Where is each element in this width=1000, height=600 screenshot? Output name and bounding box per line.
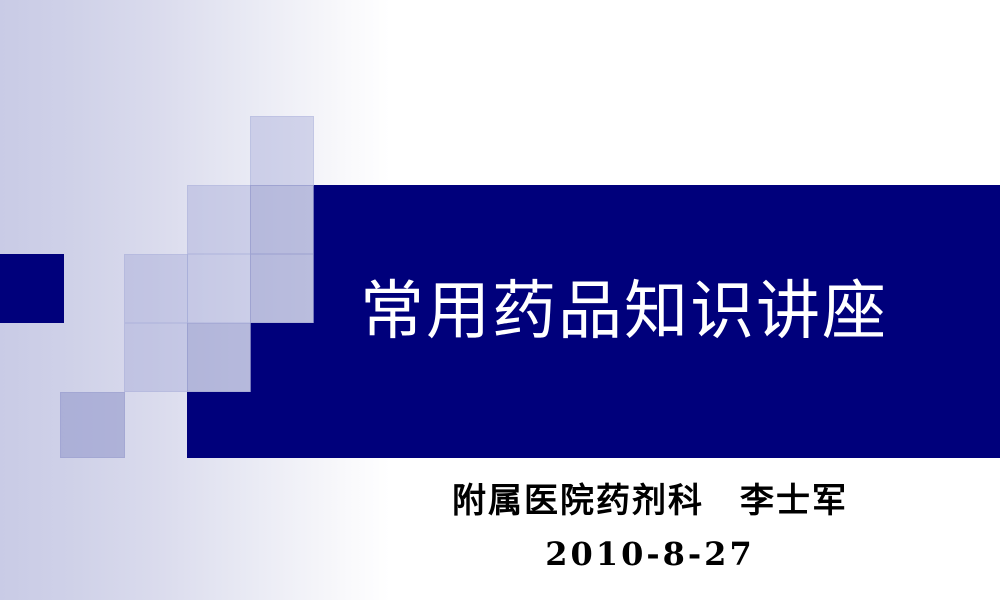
presenter-line: 附属医院药剂科 李士军 — [300, 478, 1000, 524]
decorative-square-1 — [250, 116, 314, 186]
decorative-square-7 — [124, 323, 188, 392]
navy-step-square-lower — [187, 392, 313, 458]
decorative-square-2 — [187, 185, 251, 254]
navy-accent-square-left — [0, 254, 64, 323]
date-line: 2010-8-27 — [300, 532, 1000, 576]
navy-step-square-upper — [250, 323, 313, 392]
decorative-square-9 — [60, 392, 125, 458]
decorative-square-3 — [250, 185, 314, 254]
decorative-square-8 — [187, 323, 251, 392]
slide-title: 常用药品知识讲座 — [360, 276, 920, 346]
decorative-square-4 — [124, 254, 188, 323]
decorative-square-5 — [187, 254, 251, 323]
title-slide: 常用药品知识讲座 附属医院药剂科 李士军 2010-8-27 — [0, 0, 1000, 600]
subtitle-block: 附属医院药剂科 李士军 2010-8-27 — [300, 478, 1000, 576]
decorative-square-6 — [250, 254, 314, 323]
